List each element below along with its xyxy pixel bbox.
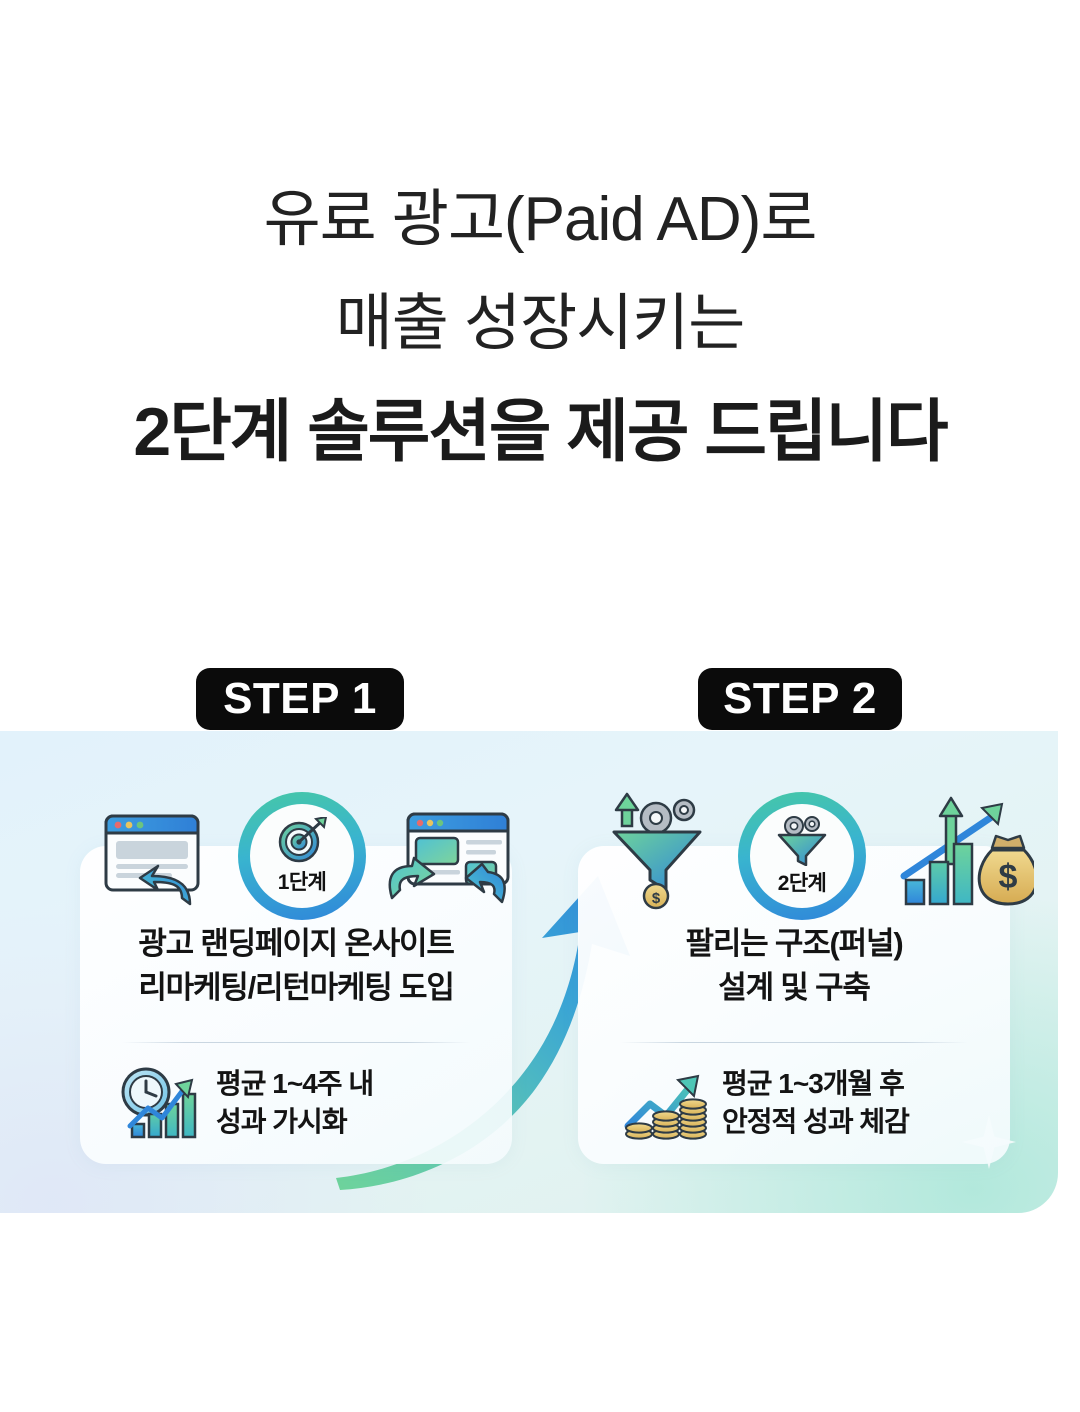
step-2-footer-line-1: 평균 1~3개월 후 xyxy=(722,1065,909,1103)
step-1-badge-label: STEP 1 xyxy=(223,674,377,724)
clock-bar-chart-growth-icon xyxy=(116,1064,202,1142)
coin-stacks-growth-arrow-icon xyxy=(622,1064,708,1142)
step-1-footer-text: 평균 1~4주 내 성과 가시화 xyxy=(216,1065,373,1141)
step-2-title-line-1: 팔리는 구조(퍼널) xyxy=(578,922,1010,966)
step-2-card: 팔리는 구조(퍼널) 설계 및 구축 xyxy=(578,846,1010,1164)
step-1-divider xyxy=(122,1042,470,1043)
step-2-footer-line-2: 안정적 성과 체감 xyxy=(722,1103,909,1141)
step-1-footer-line-2: 성과 가시화 xyxy=(216,1103,373,1141)
step-2-badge-label: STEP 2 xyxy=(723,674,877,724)
step-1-badge: STEP 1 xyxy=(196,668,404,730)
step-1-title-line-1: 광고 랜딩페이지 온사이트 xyxy=(80,922,512,966)
step-2-title: 팔리는 구조(퍼널) 설계 및 구축 xyxy=(578,922,1010,1010)
step-2-divider xyxy=(620,1042,968,1043)
headline-line-2: 매출 성장시키는 xyxy=(0,272,1080,376)
page-title: 유료 광고(Paid AD)로 매출 성장시키는 2단계 솔루션을 제공 드립니… xyxy=(0,168,1080,488)
step-1-card: 광고 랜딩페이지 온사이트 리마케팅/리턴마케팅 도입 xyxy=(80,846,512,1164)
headline-line-1: 유료 광고(Paid AD)로 xyxy=(0,168,1080,272)
infographic-root: 유료 광고(Paid AD)로 매출 성장시키는 2단계 솔루션을 제공 드립니… xyxy=(0,0,1080,1412)
step-1-footer-line-1: 평균 1~4주 내 xyxy=(216,1065,373,1103)
step-1-title: 광고 랜딩페이지 온사이트 리마케팅/리턴마케팅 도입 xyxy=(80,922,512,1010)
step-2-title-line-2: 설계 및 구축 xyxy=(578,966,1010,1010)
headline-line-3: 2단계 솔루션을 제공 드립니다 xyxy=(0,376,1080,488)
step-1-footer: 평균 1~4주 내 성과 가시화 xyxy=(116,1064,373,1142)
step-2-footer-text: 평균 1~3개월 후 안정적 성과 체감 xyxy=(722,1065,909,1141)
step-2-badge: STEP 2 xyxy=(698,668,902,730)
step-1-title-line-2: 리마케팅/리턴마케팅 도입 xyxy=(80,966,512,1010)
step-2-footer: 평균 1~3개월 후 안정적 성과 체감 xyxy=(622,1064,909,1142)
